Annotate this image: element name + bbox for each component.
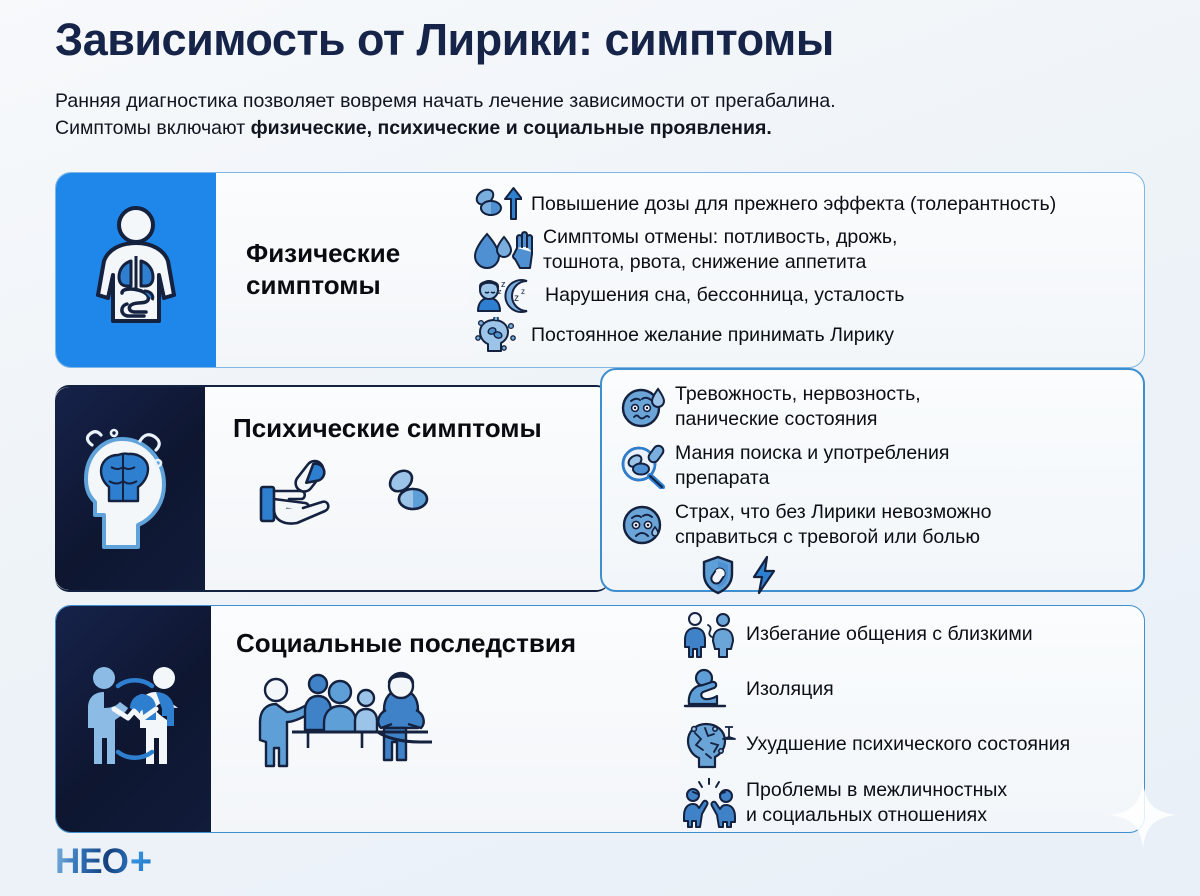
- header: Зависимость от Лирики: симптомы Ранняя д…: [0, 0, 1200, 143]
- list-item-text: Изоляция: [746, 677, 834, 702]
- social-items: Избегание общения с близкими Изоляция: [681, 606, 1144, 832]
- list-item-text: Избегание общения с близкими: [746, 622, 1033, 647]
- mental-heading-panel: Психические симптомы: [205, 387, 610, 590]
- two-people-avoiding-icon: [681, 611, 737, 659]
- physical-heading: Физические симптомы: [216, 238, 400, 301]
- svg-text:z: z: [514, 293, 519, 304]
- list-item-text: Симптомы отмены: потливость, дрожь, тошн…: [543, 225, 897, 274]
- sweat-drop-trembling-hand-icon: [474, 228, 534, 272]
- list-item-text: Ухудшение психического состояния: [746, 732, 1070, 757]
- social-heading: Социальные последствия: [236, 628, 576, 660]
- list-item-text: Мания поиска и употребления препарата: [675, 441, 949, 490]
- list-item: z z z z Нарушения сна, бессонница, устал…: [474, 277, 1126, 315]
- svg-text:z: z: [498, 289, 502, 296]
- list-item-text: Тревожность, нервозность, панические сос…: [675, 382, 921, 431]
- mental-items-panel: Тревожность, нервозность, панические сос…: [600, 368, 1145, 592]
- list-item: Повышение дозы для прежнего эффекта (тол…: [474, 185, 1126, 223]
- physical-items: Повышение дозы для прежнего эффекта (тол…: [470, 173, 1144, 367]
- pills-up-arrow-icon: [474, 185, 522, 223]
- craving-head-icon: [474, 317, 522, 355]
- brand-logo: НЕО +: [55, 842, 152, 882]
- list-item-text: Нарушения сна, бессонница, усталость: [545, 283, 904, 308]
- people-conflict-icon: [681, 778, 737, 828]
- card-social-consequences: Социальные последствия: [55, 605, 1145, 833]
- worried-face-icon: [620, 502, 666, 548]
- subtitle-line-2: Симптомы включают физические, психически…: [55, 115, 1145, 143]
- physical-panel: [56, 173, 216, 367]
- person-sitting-alone-icon: [681, 668, 737, 712]
- logo-plus-icon: +: [130, 845, 152, 879]
- subtitle-line-1: Ранняя диагностика позволяет вовремя нач…: [55, 88, 1145, 116]
- card-mental-symptoms: Психические симптомы: [55, 385, 610, 592]
- mental-heading: Психические симптомы: [233, 413, 542, 445]
- page-title: Зависимость от Лирики: симптомы: [55, 14, 1145, 66]
- list-item-text: Постоянное желание принимать Лирику: [531, 323, 894, 348]
- list-item: Постоянное желание принимать Лирику: [474, 317, 1126, 355]
- page-subtitle: Ранняя диагностика позволяет вовремя нач…: [55, 88, 1145, 143]
- svg-text:z: z: [521, 287, 525, 296]
- broken-mind-head-icon: [681, 721, 737, 769]
- card-physical-symptoms: Физические симптомы Повышение дозы для п…: [55, 172, 1145, 368]
- sleepy-face-moon-icon: z z z z: [474, 277, 536, 315]
- group-of-people-icon: [250, 668, 580, 773]
- lightning-bolt-icon: [751, 555, 777, 595]
- list-item: Тревожность, нервозность, панические сос…: [620, 382, 1127, 431]
- logo-text: НЕО: [55, 842, 128, 882]
- list-item-text: Страх, что без Лирики невозможно справит…: [675, 500, 991, 549]
- social-heading-panel: Социальные последствия: [211, 606, 681, 832]
- social-panel: [56, 606, 211, 832]
- head-brain-icon: [76, 425, 184, 553]
- list-item: Ухудшение психического состояния: [681, 721, 1130, 769]
- list-item: Мания поиска и употребления препарата: [620, 441, 1127, 490]
- hand-with-pills-icon: [253, 453, 503, 535]
- list-item: Избегание общения с близкими: [681, 611, 1130, 659]
- human-body-organs-icon: [86, 203, 186, 338]
- svg-text:z: z: [501, 279, 506, 289]
- anxious-face-icon: [620, 384, 666, 430]
- list-item-text: Проблемы в межличностных и социальных от…: [746, 778, 1007, 827]
- list-item-text: Повышение дозы для прежнего эффекта (тол…: [531, 192, 1056, 217]
- list-item: Изоляция: [681, 668, 1130, 712]
- subtitle-bold-part: физические, психические и социальные про…: [251, 117, 772, 139]
- list-item: Проблемы в межличностных и социальных от…: [681, 778, 1130, 828]
- magnifier-pills-icon: [620, 443, 666, 489]
- list-item: Симптомы отмены: потливость, дрожь, тошн…: [474, 225, 1126, 274]
- list-item: Страх, что без Лирики невозможно справит…: [620, 500, 1127, 549]
- mental-panel: [55, 387, 205, 590]
- subtitle-regular-part: Симптомы включают: [55, 117, 251, 139]
- shield-pill-icon: [702, 555, 736, 595]
- mental-footer-icons: [702, 555, 1127, 595]
- physical-heading-panel: Физические симптомы: [216, 173, 470, 367]
- two-people-handshake-icon: [76, 664, 192, 774]
